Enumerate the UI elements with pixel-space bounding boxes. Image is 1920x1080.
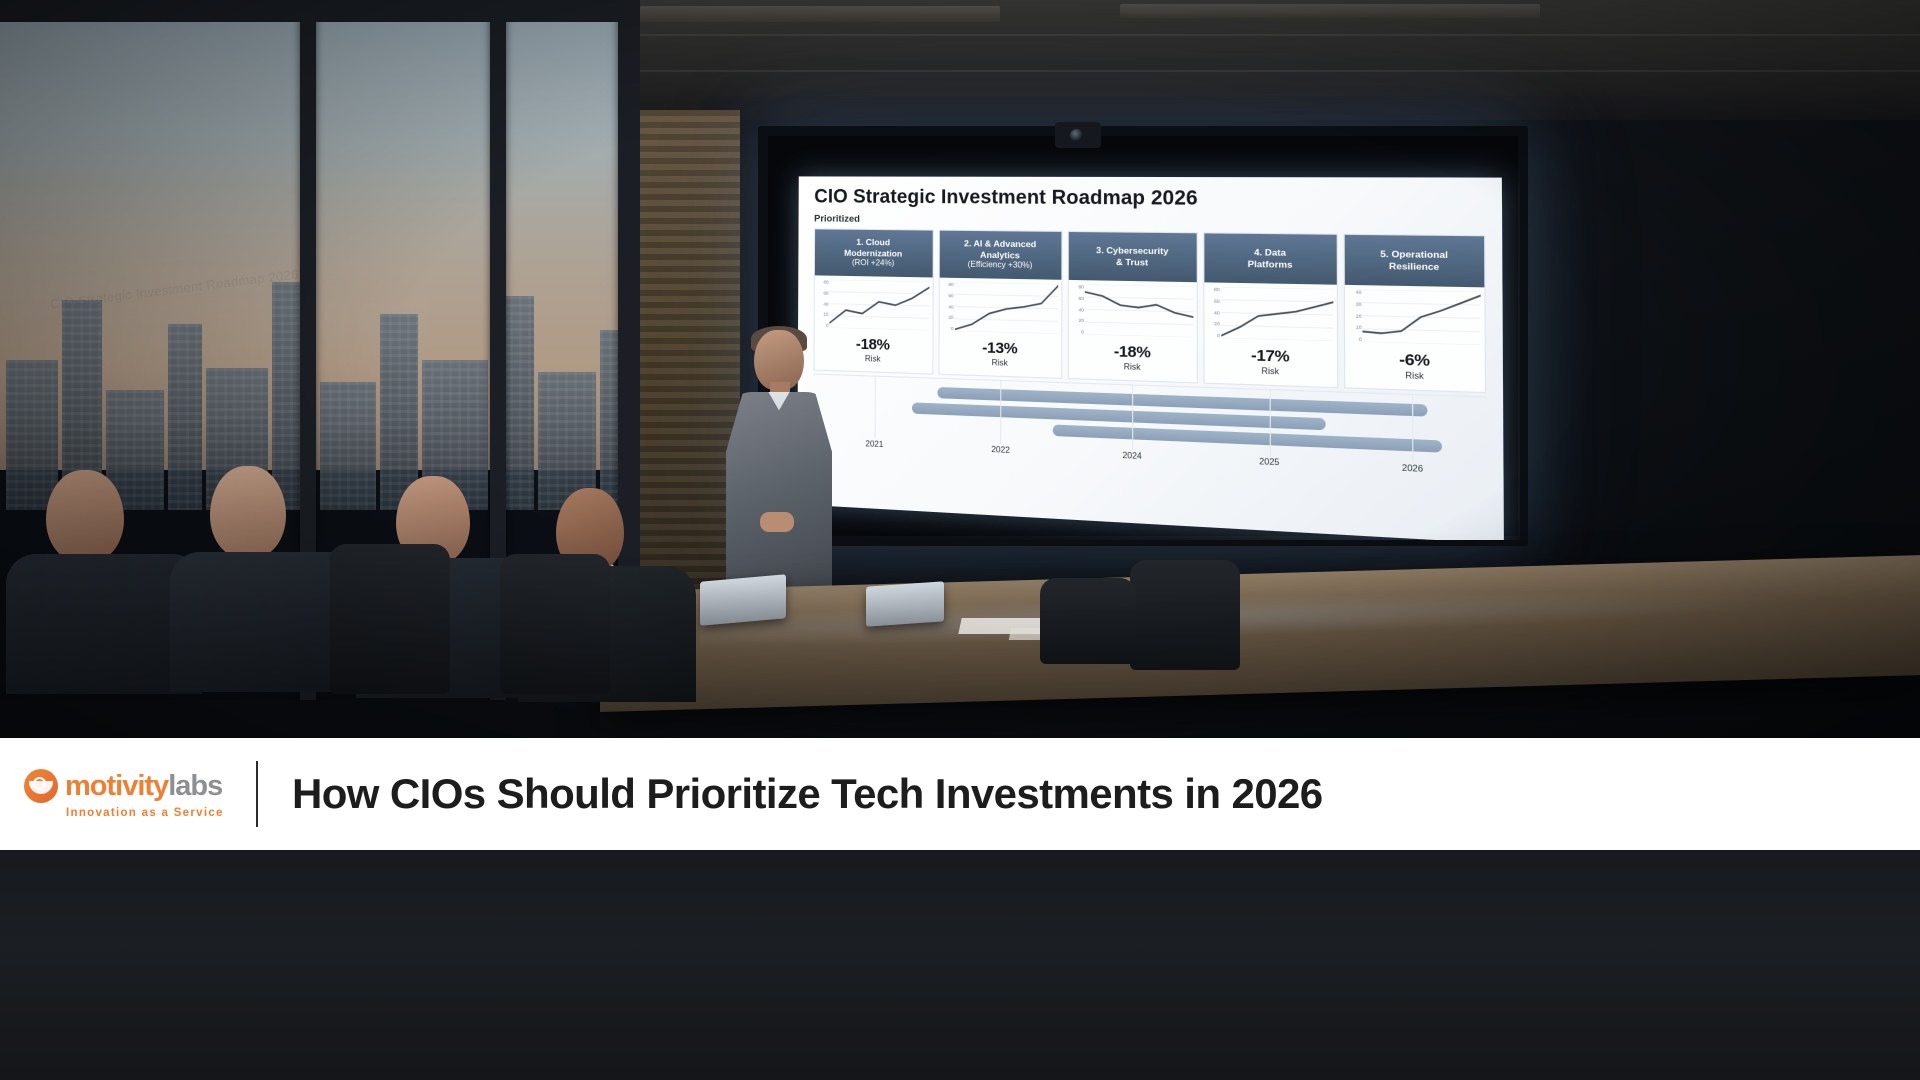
timeline-gridline xyxy=(874,377,875,439)
timeline-gridline xyxy=(1269,390,1270,456)
y-tick-label: 80 xyxy=(1071,284,1084,289)
priority-card-header: 3. Cybersecurity& Trust xyxy=(1069,232,1196,282)
mini-line-chart: 403020100 xyxy=(1345,285,1484,348)
mini-chart-plot xyxy=(955,282,1059,334)
mini-chart-y-axis: 806040200 xyxy=(941,282,954,331)
y-tick-label: 80 xyxy=(817,279,829,284)
chair xyxy=(500,554,610,694)
mini-chart-y-axis: 806040100 xyxy=(817,279,830,327)
attendee-2 xyxy=(178,466,354,682)
logo-word-a: motivity xyxy=(65,770,168,802)
ceiling-light xyxy=(1120,4,1540,18)
y-tick-label: 0 xyxy=(817,322,829,327)
y-tick-label: 10 xyxy=(1348,324,1362,330)
chair xyxy=(330,544,450,694)
mini-chart-plot xyxy=(1363,290,1481,346)
attendee-1 xyxy=(10,470,190,680)
y-tick-label: 0 xyxy=(941,326,953,331)
y-tick-label: 60 xyxy=(1206,298,1219,304)
priority-card[interactable]: 2. AI & AdvancedAnalytics(Efficiency +30… xyxy=(938,230,1063,379)
risk-value: -13% xyxy=(939,338,1061,359)
ceiling-seam xyxy=(520,70,1920,72)
y-tick-label: 60 xyxy=(1071,295,1084,300)
y-tick-label: 0 xyxy=(1348,336,1362,342)
y-tick-label: 40 xyxy=(817,301,829,306)
mini-chart-plot xyxy=(1085,284,1193,337)
chair xyxy=(1040,578,1136,664)
y-tick-label: 0 xyxy=(1071,329,1084,335)
article-headline: How CIOs Should Prioritize Tech Investme… xyxy=(292,770,1323,818)
mini-chart-plot xyxy=(829,280,929,331)
mini-line-chart: 806040200 xyxy=(939,278,1061,336)
ceiling-light xyxy=(640,6,1000,22)
slide-title: CIO Strategic Investment Roadmap 2026 xyxy=(814,186,1485,213)
priority-card-header: 1. CloudModernization(ROI +24%) xyxy=(815,229,932,277)
y-tick-label: 80 xyxy=(941,282,953,287)
ceiling-seam xyxy=(520,34,1920,36)
y-tick-label: 40 xyxy=(941,304,953,309)
logo-word-b: labs xyxy=(168,770,222,802)
priority-card-header: 4. DataPlatforms xyxy=(1204,233,1337,284)
priority-card-title-line2: Resilience xyxy=(1349,259,1481,273)
mini-line-chart: 806040200 xyxy=(1069,280,1197,340)
window-header xyxy=(0,0,640,22)
y-tick-label: 20 xyxy=(1348,313,1362,319)
y-tick-label: 20 xyxy=(1206,321,1219,327)
logo-row: motivitylabs xyxy=(24,769,222,803)
priority-cards: 1. CloudModernization(ROI +24%)806040100… xyxy=(813,228,1486,393)
brand-logo[interactable]: motivitylabs Innovation as a Service xyxy=(24,769,242,819)
boardroom-photo: CIO Strategic Investment Roadmap 2026 CI… xyxy=(0,0,1920,790)
timeline-gridline xyxy=(1132,385,1133,450)
risk-metric: -6%Risk xyxy=(1346,344,1485,392)
priority-card-title-line2: Platforms xyxy=(1208,257,1334,270)
screenshot-root: CIO Strategic Investment Roadmap 2026 CI… xyxy=(0,0,1920,1080)
y-tick-label: 10 xyxy=(817,312,829,317)
y-tick-label: 60 xyxy=(817,290,829,295)
mini-chart-y-axis: 403020100 xyxy=(1348,289,1363,342)
y-tick-label: 40 xyxy=(1071,307,1084,313)
mini-chart-y-axis: 806040200 xyxy=(1206,287,1221,339)
logo-tagline: Innovation as a Service xyxy=(66,807,224,819)
banner-divider xyxy=(256,761,258,827)
y-tick-label: 30 xyxy=(1348,301,1362,307)
gantt-bar[interactable] xyxy=(1053,424,1442,452)
priority-card[interactable]: 4. DataPlatforms806040200-17%Risk xyxy=(1203,232,1339,388)
priority-card[interactable]: 3. Cybersecurity& Trust806040200-18%Risk xyxy=(1068,231,1198,384)
timeline-gridline xyxy=(1001,381,1002,444)
presenter-head xyxy=(754,330,804,390)
risk-value: -18% xyxy=(1069,341,1197,363)
risk-metric: -18%Risk xyxy=(1069,336,1197,382)
y-tick-label: 20 xyxy=(1071,318,1084,324)
y-tick-label: 60 xyxy=(941,293,953,298)
y-tick-label: 40 xyxy=(1206,310,1219,316)
slide-subtitle: Prioritized xyxy=(814,213,1485,230)
chair xyxy=(1130,560,1240,670)
priority-card-subtitle: (Efficiency +30%) xyxy=(942,260,1058,272)
title-banner: motivitylabs Innovation as a Service How… xyxy=(0,738,1920,850)
mini-line-chart: 806040100 xyxy=(815,275,933,332)
mini-chart-plot xyxy=(1221,287,1334,341)
slide-area: CIO Strategic Investment Roadmap 2026 Pr… xyxy=(760,130,1520,540)
priority-card-subtitle: (ROI +24%) xyxy=(818,258,929,270)
priority-card-header: 5. OperationalResilience xyxy=(1345,235,1484,288)
y-tick-label: 80 xyxy=(1206,287,1219,293)
y-tick-label: 40 xyxy=(1348,289,1362,295)
logo-wordmark: motivitylabs xyxy=(65,772,222,801)
motivity-logo-icon xyxy=(24,769,58,803)
mini-chart-y-axis: 806040200 xyxy=(1071,284,1085,334)
y-tick-label: 0 xyxy=(1206,333,1219,339)
y-tick-label: 20 xyxy=(941,315,953,320)
laptop xyxy=(866,581,944,626)
priority-card[interactable]: 5. OperationalResilience403020100-6%Risk xyxy=(1344,234,1486,393)
slide: CIO Strategic Investment Roadmap 2026 Pr… xyxy=(797,176,1504,540)
risk-metric: -17%Risk xyxy=(1204,340,1337,387)
risk-metric: -13%Risk xyxy=(939,333,1061,378)
priority-card-title-line2: & Trust xyxy=(1072,255,1193,268)
priority-card-header: 2. AI & AdvancedAnalytics(Efficiency +30… xyxy=(939,231,1061,280)
laptop xyxy=(700,574,786,626)
presenter-hands xyxy=(760,512,794,532)
mini-line-chart: 806040200 xyxy=(1204,282,1337,343)
